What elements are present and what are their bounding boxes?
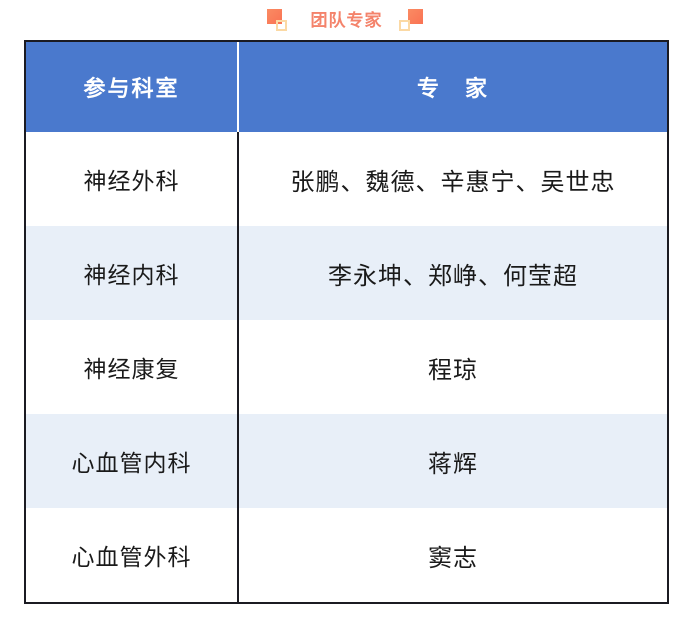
square-pair-icon xyxy=(267,9,295,31)
cell-department: 神经康复 xyxy=(26,320,238,414)
page-title-band: 团队专家 xyxy=(0,0,693,40)
cell-experts: 窦志 xyxy=(238,508,667,602)
cell-experts: 张鹏、魏德、辛惠宁、吴世忠 xyxy=(238,132,667,226)
expert-table: 参与科室 专 家 神经外科 张鹏、魏德、辛惠宁、吴世忠 神经内科 李永坤、郑峥、… xyxy=(26,42,667,602)
column-header-department: 参与科室 xyxy=(26,42,238,132)
cell-department: 神经外科 xyxy=(26,132,238,226)
cell-experts: 蒋辉 xyxy=(238,414,667,508)
table-row: 神经外科 张鹏、魏德、辛惠宁、吴世忠 xyxy=(26,132,667,226)
square-pair-icon xyxy=(399,9,427,31)
cell-department: 心血管内科 xyxy=(26,414,238,508)
table-header: 参与科室 专 家 xyxy=(26,42,667,132)
column-header-experts: 专 家 xyxy=(238,42,667,132)
table-row: 心血管内科 蒋辉 xyxy=(26,414,667,508)
page-title: 团队专家 xyxy=(311,12,383,29)
table-row: 神经康复 程琼 xyxy=(26,320,667,414)
square-pair-icon-outline xyxy=(276,20,287,31)
cell-department: 心血管外科 xyxy=(26,508,238,602)
cell-experts: 程琼 xyxy=(238,320,667,414)
table-body: 神经外科 张鹏、魏德、辛惠宁、吴世忠 神经内科 李永坤、郑峥、何莹超 神经康复 … xyxy=(26,132,667,602)
cell-experts: 李永坤、郑峥、何莹超 xyxy=(238,226,667,320)
cell-department: 神经内科 xyxy=(26,226,238,320)
table-row: 心血管外科 窦志 xyxy=(26,508,667,602)
square-pair-icon-outline xyxy=(399,20,410,31)
table-row: 神经内科 李永坤、郑峥、何莹超 xyxy=(26,226,667,320)
square-pair-icon-filled xyxy=(408,9,423,24)
expert-table-container: 参与科室 专 家 神经外科 张鹏、魏德、辛惠宁、吴世忠 神经内科 李永坤、郑峥、… xyxy=(24,40,669,604)
table-header-row: 参与科室 专 家 xyxy=(26,42,667,132)
